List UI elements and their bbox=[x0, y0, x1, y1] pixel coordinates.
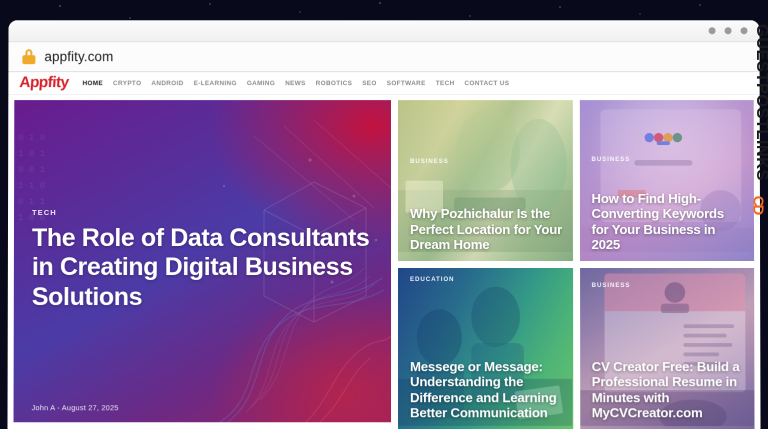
cards-row-top: BUSINESS Why Pozhichalur Is the Perfect … bbox=[398, 100, 754, 261]
svg-text:0 1 0: 0 1 0 bbox=[18, 133, 45, 143]
nav-item-gaming[interactable]: GAMING bbox=[242, 80, 280, 87]
article-card-message[interactable]: EDUCATION Messege or Message: Understand… bbox=[398, 268, 573, 429]
screenshot-root: appfity.com Appfity HOME CRYPTO ANDROID … bbox=[0, 0, 768, 429]
svg-text:0 0 1: 0 0 1 bbox=[18, 165, 45, 175]
cards-row-bottom: EDUCATION Messege or Message: Understand… bbox=[398, 268, 755, 429]
hero-category-label[interactable]: TECH bbox=[32, 208, 371, 217]
nav-item-robotics[interactable]: ROBOTICS bbox=[311, 80, 357, 87]
card-category-label[interactable]: BUSINESS bbox=[410, 158, 449, 165]
svg-text:0 1 1: 0 1 1 bbox=[18, 197, 45, 207]
hero-text-block: TECH The Role of Data Consultants in Cre… bbox=[32, 208, 371, 312]
window-control-dot-1[interactable] bbox=[709, 27, 716, 34]
hero-byline: John A - August 27, 2025 bbox=[32, 403, 119, 412]
nav-item-seo[interactable]: SEO bbox=[357, 80, 382, 87]
card-category-label[interactable]: BUSINESS bbox=[592, 282, 631, 289]
guestpostlinks-watermark: GUESTPOSTLINKS bbox=[754, 24, 768, 181]
card-category-label[interactable]: BUSINESS bbox=[591, 156, 630, 163]
article-card-keywords[interactable]: BUSINESS How to Find High-Converting Key… bbox=[579, 100, 754, 261]
nav-item-home[interactable]: HOME bbox=[77, 80, 108, 87]
card-title[interactable]: How to Find High-Converting Keywords for… bbox=[591, 191, 744, 253]
padlock-icon bbox=[22, 49, 35, 64]
card-title[interactable]: Why Pozhichalur Is the Perfect Location … bbox=[410, 206, 563, 253]
nav-item-android[interactable]: ANDROID bbox=[146, 80, 188, 87]
cards-column: BUSINESS Why Pozhichalur Is the Perfect … bbox=[398, 100, 755, 429]
nav-item-tech[interactable]: TECH bbox=[431, 80, 460, 87]
svg-text:1 0 1: 1 0 1 bbox=[18, 149, 45, 159]
svg-text:1 1 0: 1 1 0 bbox=[18, 181, 45, 191]
site-logo[interactable]: Appfity bbox=[19, 74, 69, 92]
website-content: Appfity HOME CRYPTO ANDROID E-LEARNING G… bbox=[7, 72, 760, 429]
site-navbar: Appfity HOME CRYPTO ANDROID E-LEARNING G… bbox=[8, 72, 759, 95]
card-title[interactable]: CV Creator Free: Build a Professional Re… bbox=[592, 359, 745, 421]
featured-posts-grid: 0 1 01 0 1 0 0 11 1 0 0 1 11 0 0 bbox=[7, 95, 760, 429]
card-category-label[interactable]: EDUCATION bbox=[410, 276, 454, 283]
window-controls[interactable] bbox=[709, 27, 748, 34]
url-text: appfity.com bbox=[44, 49, 113, 64]
card-title[interactable]: Messege or Message: Understanding the Di… bbox=[410, 359, 563, 421]
nav-item-elearning[interactable]: E-LEARNING bbox=[189, 80, 242, 87]
nav-item-contact-us[interactable]: CONTACT US bbox=[459, 80, 514, 87]
window-control-dot-3[interactable] bbox=[741, 27, 748, 34]
browser-window: appfity.com Appfity HOME CRYPTO ANDROID … bbox=[7, 20, 760, 429]
browser-titlebar bbox=[8, 20, 759, 42]
guestpostlinks-logo-mark: CD bbox=[750, 196, 767, 214]
hero-article-card[interactable]: 0 1 01 0 1 0 0 11 1 0 0 1 11 0 0 bbox=[14, 100, 392, 422]
article-card-pozhichalur[interactable]: BUSINESS Why Pozhichalur Is the Perfect … bbox=[398, 100, 573, 261]
hero-column: 0 1 01 0 1 0 0 11 1 0 0 1 11 0 0 bbox=[13, 100, 391, 429]
nav-item-news[interactable]: NEWS bbox=[280, 80, 311, 87]
article-card-cv-creator[interactable]: BUSINESS CV Creator Free: Build a Profes… bbox=[580, 268, 755, 429]
address-bar[interactable]: appfity.com bbox=[8, 42, 759, 72]
nav-item-software[interactable]: SOFTWARE bbox=[382, 80, 431, 87]
window-control-dot-2[interactable] bbox=[725, 27, 732, 34]
nav-item-crypto[interactable]: CRYPTO bbox=[108, 80, 146, 87]
hero-title[interactable]: The Role of Data Consultants in Creating… bbox=[32, 224, 371, 312]
